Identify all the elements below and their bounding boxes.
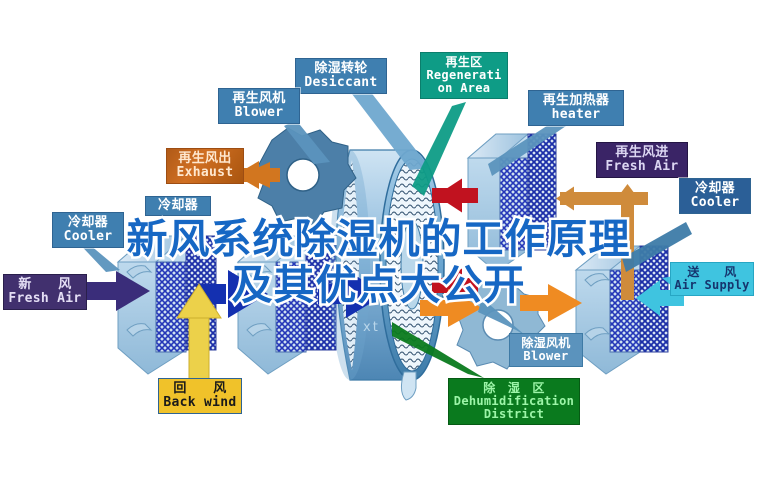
label-regen-blower-cn: 再生风机 bbox=[221, 92, 297, 106]
label-dehum-district-cn: 除 湿 区 bbox=[451, 382, 577, 395]
label-back-wind-en: Back wind bbox=[161, 396, 239, 410]
label-regen-area: 再生区 Regenerati on Area bbox=[420, 52, 508, 99]
label-dehum-district: 除 湿 区 Dehumidification District bbox=[448, 378, 580, 425]
watermark-text: xt bbox=[363, 320, 380, 335]
page-title-line1: 新风系统除湿机的工作原理 bbox=[0, 216, 757, 262]
label-regen-fresh-air: 再生风进 Fresh Air bbox=[596, 142, 688, 178]
label-cooler-right-cn: 冷却器 bbox=[682, 182, 748, 196]
label-regen-area-en2: on Area bbox=[423, 82, 505, 95]
label-cooler-mid-cn: 冷却器 bbox=[148, 199, 208, 213]
label-regen-area-en: Regenerati bbox=[423, 69, 505, 82]
label-regen-area-cn: 再生区 bbox=[423, 56, 505, 69]
label-cooler-right-en: Cooler bbox=[682, 196, 748, 210]
label-regen-blower: 再生风机 Blower bbox=[218, 88, 300, 124]
label-regen-fresh-air-en: Fresh Air bbox=[599, 160, 685, 174]
label-regen-fresh-air-cn: 再生风进 bbox=[599, 146, 685, 160]
label-regen-heater-cn: 再生加热器 bbox=[531, 94, 621, 108]
page-title-line2: 及其优点大公开 bbox=[0, 262, 757, 308]
diagram-canvas: 除湿转轮 Desiccant 再生风机 Blower 再生区 Regenerat… bbox=[0, 0, 757, 488]
label-back-wind: 回 风 Back wind bbox=[158, 378, 242, 414]
label-back-wind-cn: 回 风 bbox=[161, 382, 239, 396]
label-dehum-blower: 除湿风机 Blower bbox=[509, 333, 583, 367]
label-desiccant-wheel-en: Desiccant bbox=[298, 76, 384, 90]
label-regen-heater: 再生加热器 heater bbox=[528, 90, 624, 126]
page-title: 新风系统除湿机的工作原理 及其优点大公开 bbox=[0, 216, 757, 308]
label-dehum-blower-cn: 除湿风机 bbox=[512, 337, 580, 350]
label-desiccant-wheel-cn: 除湿转轮 bbox=[298, 62, 384, 76]
label-exhaust-cn: 再生风出 bbox=[169, 152, 241, 166]
label-cooler-right: 冷却器 Cooler bbox=[679, 178, 751, 214]
label-exhaust-en: Exhaust bbox=[169, 166, 241, 180]
label-exhaust: 再生风出 Exhaust bbox=[166, 148, 244, 184]
label-dehum-blower-en: Blower bbox=[512, 350, 580, 363]
label-dehum-district-en: Dehumidification bbox=[451, 395, 577, 408]
label-regen-blower-en: Blower bbox=[221, 106, 297, 120]
label-dehum-district-en2: District bbox=[451, 408, 577, 421]
label-cooler-mid: 冷却器 bbox=[145, 196, 211, 216]
label-desiccant-wheel: 除湿转轮 Desiccant bbox=[295, 58, 387, 94]
label-regen-heater-en: heater bbox=[531, 108, 621, 122]
